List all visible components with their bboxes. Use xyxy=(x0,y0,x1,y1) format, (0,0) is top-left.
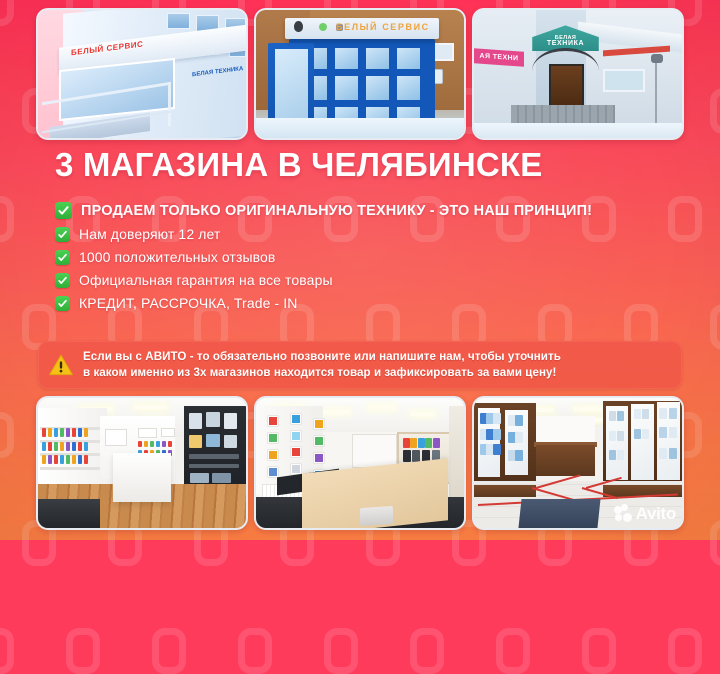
scene-storefront-2: БЕЛЫЙ СЕРВИС xyxy=(256,10,464,138)
scene-interior-2 xyxy=(256,398,464,528)
benefit-item-3: 1000 положительных отзывов xyxy=(55,249,675,265)
benefit-label-1: ПРОДАЕМ ТОЛЬКО ОРИГИНАЛЬНУЮ ТЕХНИКУ - ЭТ… xyxy=(81,203,592,219)
benefit-item-5: КРЕДИТ, РАССРОЧКА, Trade - IN xyxy=(55,295,675,311)
benefit-label-5: КРЕДИТ, РАССРОЧКА, Trade - IN xyxy=(79,295,297,311)
photo-interior-light-wood-counter[interactable] xyxy=(254,396,466,530)
background-pattern-cell xyxy=(324,628,358,674)
benefit-item-4: Официальная гарантия на все товары xyxy=(55,272,675,288)
background-pattern-cell xyxy=(668,628,702,674)
photo3-sign-line2: ТЕХНИКА xyxy=(532,40,599,47)
background-pattern-cell xyxy=(582,628,616,674)
benefit-item-1: ПРОДАЕМ ТОЛЬКО ОРИГИНАЛЬНУЮ ТЕХНИКУ - ЭТ… xyxy=(55,202,675,219)
check-icon xyxy=(55,227,70,242)
photo-row-bottom: Avito xyxy=(36,396,684,530)
background-pattern-cell xyxy=(0,628,14,674)
check-icon xyxy=(55,250,70,265)
photo-storefront-belaya-tehnika-porch[interactable]: АЯ ТЕХНИ БЕЛАЯ ТЕХНИКА xyxy=(472,8,684,140)
benefit-item-2: Нам доверяют 12 лет xyxy=(55,226,675,242)
warning-line-2: в каком именно из 3х магазинов находится… xyxy=(83,366,556,379)
scene-storefront-1: БЕЛЫЙ СЕРВИС БЕЛАЯ ТЕХНИКА xyxy=(38,10,246,138)
benefits-list: ПРОДАЕМ ТОЛЬКО ОРИГИНАЛЬНУЮ ТЕХНИКУ - ЭТ… xyxy=(55,202,675,311)
photo-interior-white-shop-wood-floor[interactable] xyxy=(36,396,248,530)
photo2-sign-text: БЕЛЫЙ СЕРВИС xyxy=(336,22,430,32)
warning-line-1: Если вы с АВИТО - то обязательно позвони… xyxy=(83,350,561,363)
benefit-label-4: Официальная гарантия на все товары xyxy=(79,272,333,288)
background-pattern-cell xyxy=(66,628,100,674)
warning-text: Если вы с АВИТО - то обязательно позвони… xyxy=(83,349,561,380)
background-pattern-cell xyxy=(496,628,530,674)
background-pattern-cell xyxy=(410,628,444,674)
check-icon xyxy=(55,273,70,288)
check-icon xyxy=(55,296,70,311)
check-icon xyxy=(55,202,72,219)
background-pattern-cell xyxy=(238,628,272,674)
benefit-label-2: Нам доверяют 12 лет xyxy=(79,226,220,242)
scene-interior-3 xyxy=(474,398,682,528)
page-title: 3 МАГАЗИНА В ЧЕЛЯБИНСКЕ xyxy=(55,148,542,181)
scene-interior-1 xyxy=(38,398,246,528)
background-pattern-cell xyxy=(152,628,186,674)
photo-storefront-white-service-blue-building[interactable]: БЕЛЫЙ СЕРВИС БЕЛАЯ ТЕХНИКА xyxy=(36,8,248,140)
photo-storefront-blue-glass-entrance[interactable]: БЕЛЫЙ СЕРВИС xyxy=(254,8,466,140)
photo-row-top: БЕЛЫЙ СЕРВИС БЕЛАЯ ТЕХНИКА xyxy=(36,8,684,140)
warning-banner: Если вы с АВИТО - то обязательно позвони… xyxy=(38,341,682,389)
apple-logo-icon xyxy=(294,21,303,32)
poster-root: БЕЛЫЙ СЕРВИС БЕЛАЯ ТЕХНИКА xyxy=(0,0,720,540)
photo3-side-sign: АЯ ТЕХНИ xyxy=(474,48,524,67)
photo-interior-wood-cabinets-showroom[interactable]: Avito xyxy=(472,396,684,530)
green-dot-icon xyxy=(319,23,327,31)
warning-triangle-icon xyxy=(48,353,74,377)
scene-storefront-3: АЯ ТЕХНИ БЕЛАЯ ТЕХНИКА xyxy=(474,10,682,138)
benefit-label-3: 1000 положительных отзывов xyxy=(79,249,275,265)
